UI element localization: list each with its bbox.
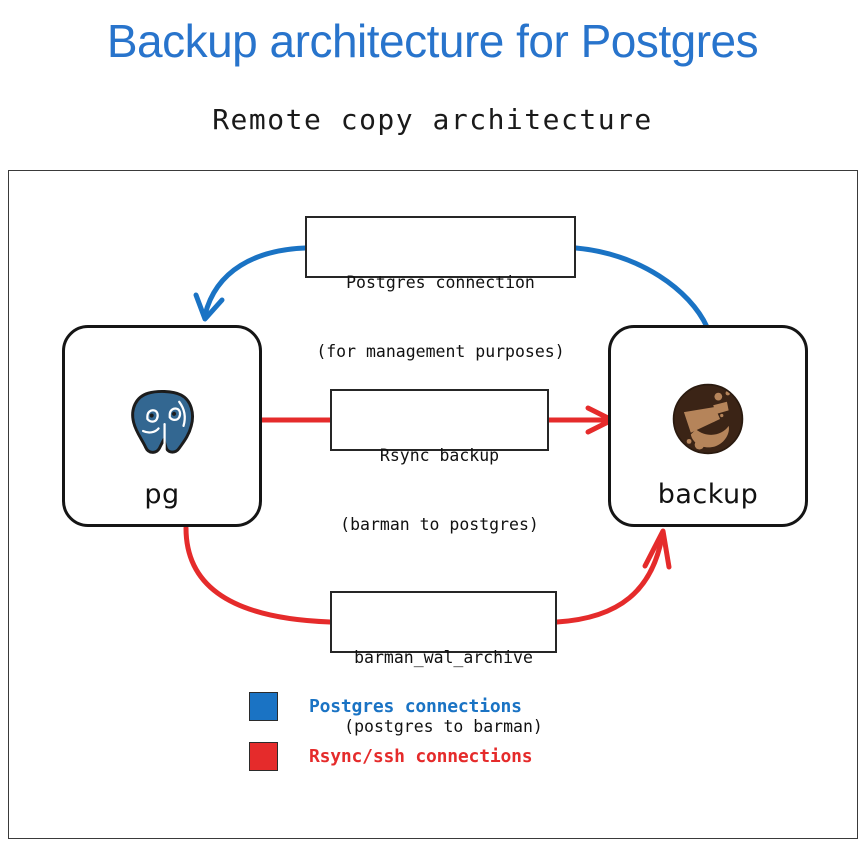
postgresql-elephant-icon <box>119 376 205 462</box>
barman-logo-icon <box>665 376 751 462</box>
edge-label-postgres-connection: Postgres connection (for management purp… <box>305 216 576 278</box>
edge-label-line1: Postgres connection <box>307 271 574 294</box>
legend-swatch-rsync <box>249 742 278 771</box>
edge-label-line2: (postgres to barman) <box>332 715 555 738</box>
edge-label-barman-wal-archive: barman_wal_archive (postgres to barman) <box>330 591 557 653</box>
page-subtitle: Remote copy architecture <box>0 103 865 136</box>
node-backup-label: backup <box>611 479 805 510</box>
legend-swatch-postgres <box>249 692 278 721</box>
edge-label-line2: (for management purposes) <box>307 340 574 363</box>
edge-label-line1: barman_wal_archive <box>332 646 555 669</box>
node-pg-label: pg <box>65 479 259 510</box>
edge-label-line1: Rsync backup <box>332 444 547 467</box>
page-title: Backup architecture for Postgres <box>0 14 865 68</box>
node-pg[interactable]: pg <box>62 325 262 527</box>
node-backup[interactable]: backup <box>608 325 808 527</box>
edge-label-rsync-backup: Rsync backup (barman to postgres) <box>330 389 549 451</box>
edge-label-line2: (barman to postgres) <box>332 513 547 536</box>
